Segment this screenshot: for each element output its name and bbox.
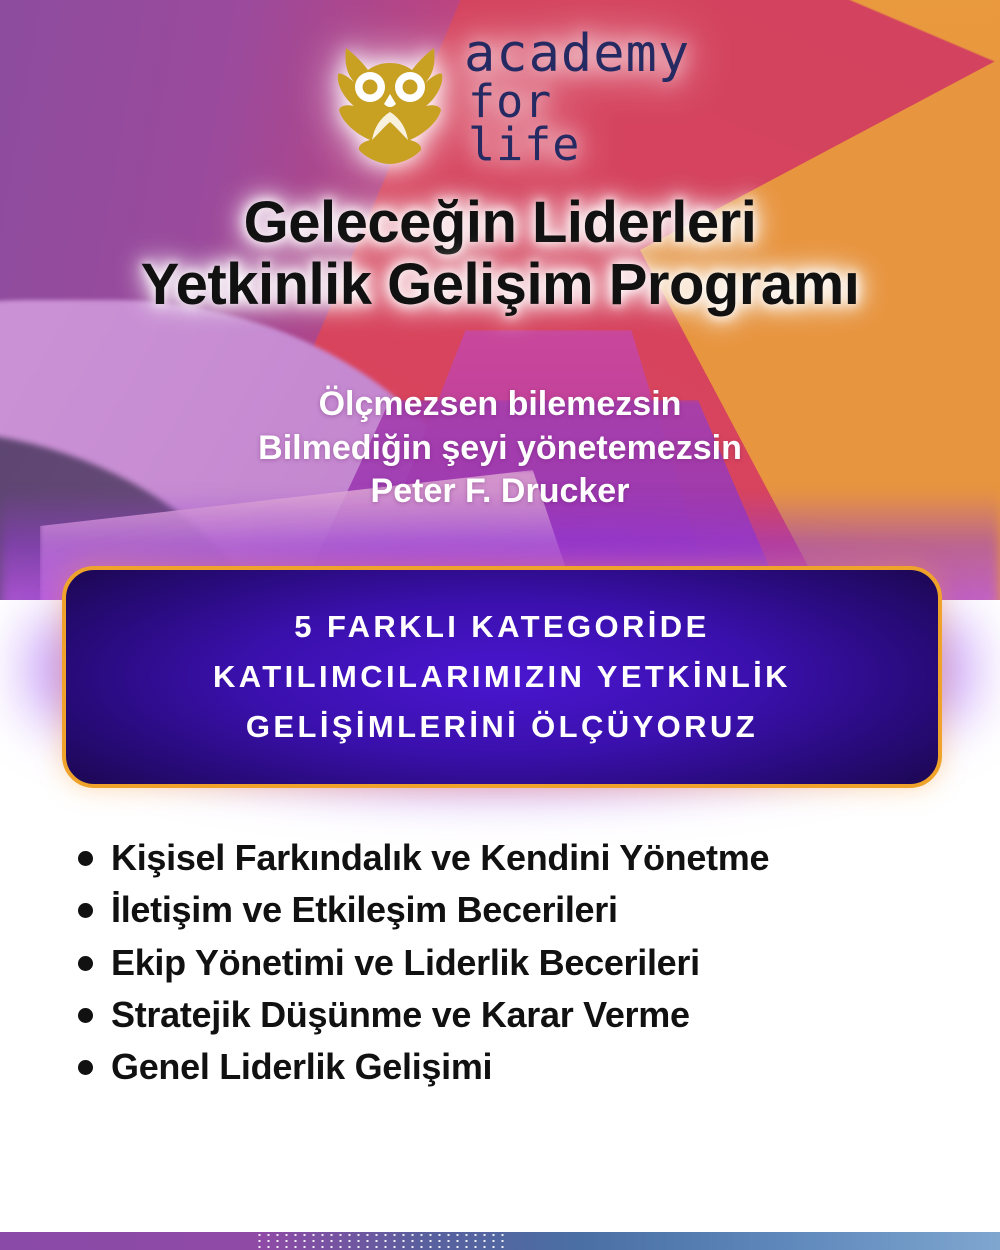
quote-attribution: Peter F. Drucker [0, 470, 1000, 514]
bullet-dot-icon [78, 1060, 93, 1075]
list-item: Ekip Yönetimi ve Liderlik Becerileri [78, 943, 978, 983]
list-item-label: Ekip Yönetimi ve Liderlik Becerileri [111, 943, 700, 983]
bullet-dot-icon [78, 903, 93, 918]
title-line-1: Geleceğin Liderleri [244, 190, 757, 255]
brand-logo: academy for life [330, 28, 690, 168]
list-item: Genel Liderlik Gelişimi [78, 1047, 978, 1087]
banner-line-3: GELİŞİMLERİNİ ÖLÇÜYORUZ [246, 705, 758, 749]
owl-icon [330, 32, 450, 164]
logo-academy-text: academy [464, 30, 690, 80]
footer-strip [0, 1232, 1000, 1250]
logo-forlife-text: for life [468, 80, 690, 166]
quote-line-2: Bilmediğin şeyi yönetemezsin [0, 427, 1000, 471]
list-item-label: Kişisel Farkındalık ve Kendini Yönetme [111, 838, 769, 878]
footer-logos: zoom characteri X TEKRAR İZLE [0, 1128, 1000, 1250]
list-item: Kişisel Farkındalık ve Kendini Yönetme [78, 838, 978, 878]
poster: academy for life Geleceğin Liderleri Yet… [0, 0, 1000, 1250]
banner-line-2: KATILIMCILARIMIZIN YETKİNLİK [213, 655, 791, 699]
banner-line-1: 5 FARKLI KATEGORİDE [294, 605, 709, 649]
list-item: İletişim ve Etkileşim Becerileri [78, 890, 978, 930]
list-item: Stratejik Düşünme ve Karar Verme [78, 995, 978, 1035]
highlight-banner: 5 FARKLI KATEGORİDE KATILIMCILARIMIZIN Y… [62, 566, 942, 788]
quote-block: Ölçmezsen bilemezsin Bilmediğin şeyi yön… [0, 383, 1000, 514]
bullet-dot-icon [78, 851, 93, 866]
list-item-label: Stratejik Düşünme ve Karar Verme [111, 995, 690, 1035]
quote-line-1: Ölçmezsen bilemezsin [0, 383, 1000, 427]
list-item-label: İletişim ve Etkileşim Becerileri [111, 890, 618, 930]
bullet-dot-icon [78, 956, 93, 971]
title-line-2: Yetkinlik Gelişim Programı [0, 254, 1000, 316]
page-title: Geleceğin Liderleri Yetkinlik Gelişim Pr… [0, 192, 1000, 316]
banner-text: 5 FARKLI KATEGORİDE KATILIMCILARIMIZIN Y… [66, 570, 938, 784]
bullet-dot-icon [78, 1008, 93, 1023]
category-list: Kişisel Farkındalık ve Kendini Yönetme İ… [78, 838, 978, 1100]
footer-strip-dots [255, 1232, 510, 1250]
list-item-label: Genel Liderlik Gelişimi [111, 1047, 492, 1087]
